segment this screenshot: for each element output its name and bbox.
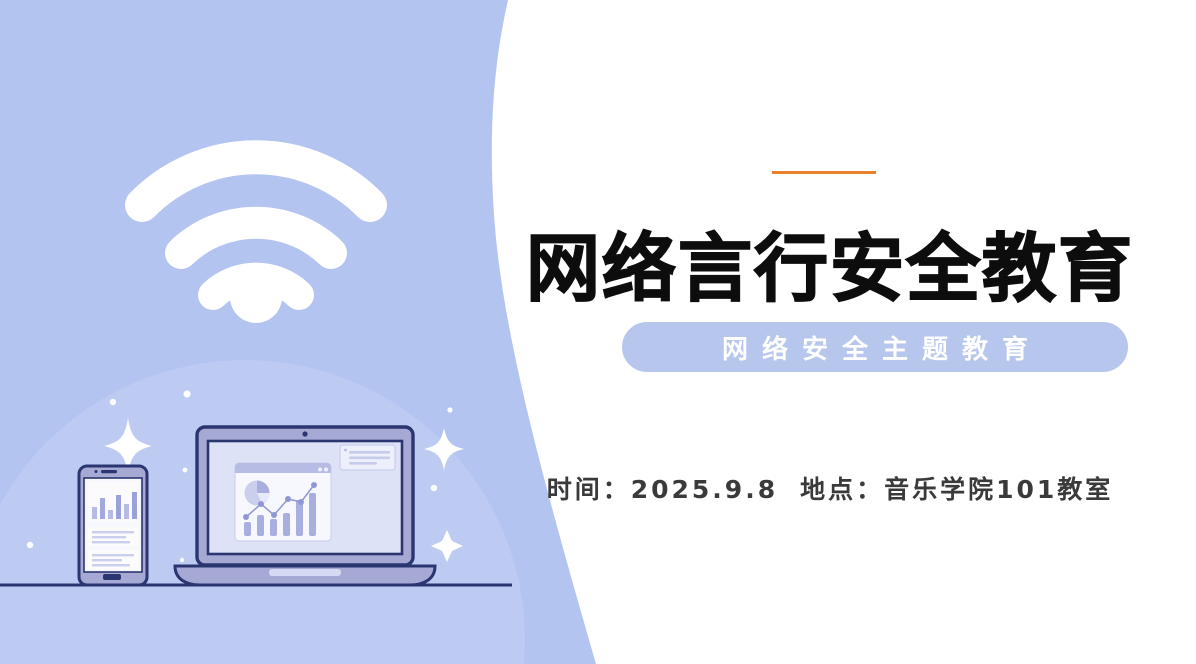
title-accent-rule xyxy=(772,171,876,174)
content-panel: 网络言行安全教育 网络安全主题教育 时间：2025.9.8地点：音乐学院101教… xyxy=(500,0,1196,664)
pie-chart xyxy=(245,481,270,506)
event-time-value: 2025.9.8 xyxy=(631,475,778,504)
event-place-value: 音乐学院101教室 xyxy=(884,475,1113,504)
phone-text-block xyxy=(88,550,138,569)
sparkle-dot xyxy=(180,558,184,562)
window-dot-icon xyxy=(318,468,322,472)
phone-text-block xyxy=(88,527,138,546)
sparkle-dot xyxy=(447,407,452,412)
event-info: 时间：2025.9.8地点：音乐学院101教室 xyxy=(500,470,1160,506)
event-place-label: 地点： xyxy=(800,475,884,504)
sparkle-dot xyxy=(431,485,437,491)
subtitle-badge-label: 网络安全主题教育 xyxy=(708,329,1042,366)
event-time-label: 时间： xyxy=(547,475,631,504)
sparkle-dot xyxy=(27,542,33,548)
poster-canvas: 网络言行安全教育 网络安全主题教育 时间：2025.9.8地点：音乐学院101教… xyxy=(0,0,1196,664)
page-title: 网络言行安全教育 xyxy=(500,227,1160,311)
phone-bar-chart xyxy=(88,482,138,522)
sparkle-dot xyxy=(183,468,188,473)
trackpad-notch xyxy=(269,569,341,576)
window-dot-icon xyxy=(324,468,328,472)
wifi-dot-icon xyxy=(230,271,282,323)
smartphone xyxy=(79,466,147,585)
subtitle-badge: 网络安全主题教育 xyxy=(622,322,1128,372)
laptop xyxy=(175,427,435,585)
chart-window xyxy=(235,463,331,541)
sparkle-dot xyxy=(110,399,116,405)
chat-card xyxy=(340,445,395,470)
sparkle-dot xyxy=(183,390,190,397)
